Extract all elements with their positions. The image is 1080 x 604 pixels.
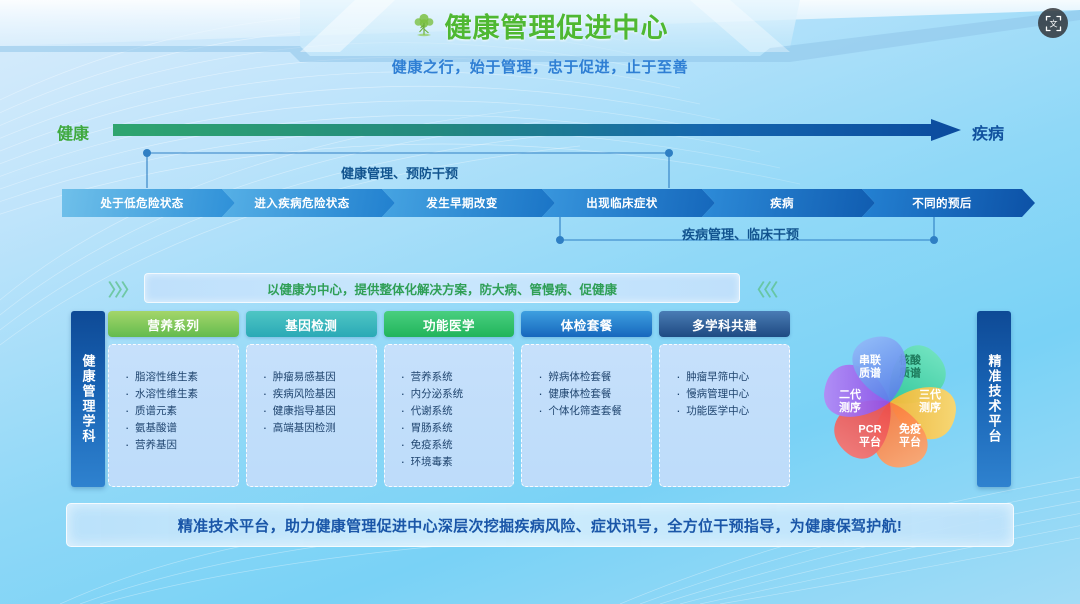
petal-label-3: 免疫平台	[899, 422, 921, 449]
timeline-stage-4[interactable]: 出现临床症状	[542, 189, 715, 217]
list-item: 环境毒素	[385, 454, 514, 471]
timeline-stage-6[interactable]: 不同的预后	[862, 189, 1035, 217]
petal-label-5: 二代测序	[839, 387, 861, 414]
timeline-stage-label: 不同的预后	[912, 195, 972, 211]
list-item: 免疫系统	[385, 437, 514, 454]
infographic-canvas: 健康管理促进中心 健康之行，始于管理，忠于促进，止于至善 文 健康 疾病	[0, 0, 1080, 604]
category-column-header[interactable]: 体检套餐	[521, 311, 652, 337]
fullscreen-button[interactable]: 文	[1038, 8, 1068, 38]
list-item: 高端基因检测	[247, 420, 376, 437]
timeline-stage-2[interactable]: 进入疾病危险状态	[222, 189, 395, 217]
category-column-body: 脂溶性维生素水溶性维生素质谱元素氨基酸谱营养基因	[108, 344, 239, 487]
vertical-label-right-text: 精准技术平台	[985, 354, 1004, 444]
petal-label-2: 三代测序	[919, 387, 941, 414]
category-column-header[interactable]: 基因检测	[246, 311, 377, 337]
annotation-disease-management: 疾病管理、临床干预	[682, 224, 799, 243]
annotation-health-management: 健康管理、预防干预	[341, 163, 458, 182]
timeline-label-health: 健康	[57, 120, 89, 144]
svg-text:文: 文	[1049, 18, 1057, 28]
category-column-1: 营养系列脂溶性维生素水溶性维生素质谱元素氨基酸谱营养基因	[108, 311, 239, 487]
timeline-stage-label: 发生早期改变	[426, 195, 497, 211]
timeline-stage-row: 处于低危险状态进入疾病危险状态发生早期改变出现临床症状疾病不同的预后	[62, 189, 1022, 217]
list-item: 辨病体检套餐	[522, 369, 651, 386]
category-column-body: 营养系统内分泌系统代谢系统胃肠系统免疫系统环境毒素	[384, 344, 515, 487]
vertical-label-left-text: 健康管理学科	[79, 354, 98, 444]
center-statement-text: 以健康为中心，提供整体化解决方案，防大病、管慢病、促健康	[144, 273, 740, 303]
tree-icon	[412, 12, 436, 38]
timeline-stage-3[interactable]: 发生早期改变	[382, 189, 555, 217]
vertical-label-precision-platform: 精准技术平台	[977, 311, 1011, 487]
page-title-row: 健康管理促进中心	[0, 6, 1080, 44]
list-item: 肿瘤早筛中心	[660, 369, 789, 386]
category-column-3: 功能医学营养系统内分泌系统代谢系统胃肠系统免疫系统环境毒素	[384, 311, 515, 487]
svg-text:平台: 平台	[859, 435, 881, 449]
category-column-body: 肿瘤易感基因疾病风险基因健康指导基因高端基因检测	[246, 344, 377, 487]
category-column-header[interactable]: 功能医学	[384, 311, 515, 337]
chevron-right-deco-icon: 〉〉〉	[108, 276, 136, 301]
fullscreen-expand-icon: 文	[1045, 15, 1062, 32]
svg-text:免疫: 免疫	[899, 422, 921, 436]
list-item: 氨基酸谱	[109, 420, 238, 437]
category-column-header[interactable]: 营养系列	[108, 311, 239, 337]
list-item: 慢病管理中心	[660, 386, 789, 403]
list-item: 质谱元素	[109, 403, 238, 420]
list-item: 营养基因	[109, 437, 238, 454]
footer-banner: 精准技术平台，助力健康管理促进中心深层次挖掘疾病风险、症状讯号，全方位干预指导，…	[66, 503, 1014, 547]
chevron-left-deco-icon: 〈〈〈	[748, 276, 776, 301]
list-item: 肿瘤易感基因	[247, 369, 376, 386]
category-column-body: 辨病体检套餐健康体检套餐个体化筛查套餐	[521, 344, 652, 487]
center-statement-banner: 〉〉〉 以健康为中心，提供整体化解决方案，防大病、管慢病、促健康 〈〈〈	[108, 272, 776, 304]
timeline-stage-1[interactable]: 处于低危险状态	[62, 189, 235, 217]
list-item: 脂溶性维生素	[109, 369, 238, 386]
timeline-gradient-arrow	[113, 119, 961, 141]
category-column-4: 体检套餐辨病体检套餐健康体检套餐个体化筛查套餐	[521, 311, 652, 487]
list-item: 个体化筛查套餐	[522, 403, 651, 420]
list-item: 营养系统	[385, 369, 514, 386]
timeline-stage-label: 进入疾病危险状态	[254, 195, 349, 211]
svg-text:二代: 二代	[839, 387, 861, 401]
category-column-2: 基因检测肿瘤易感基因疾病风险基因健康指导基因高端基因检测	[246, 311, 377, 487]
svg-text:测序: 测序	[839, 400, 861, 414]
list-item: 健康指导基因	[247, 403, 376, 420]
svg-text:三代: 三代	[919, 387, 941, 401]
list-item: 功能医学中心	[660, 403, 789, 420]
petal-label-6: 串联质谱	[859, 352, 881, 379]
petal-label-4: PCR平台	[858, 424, 881, 449]
list-item: 代谢系统	[385, 403, 514, 420]
timeline-stage-5[interactable]: 疾病	[702, 189, 875, 217]
svg-text:测序: 测序	[919, 400, 941, 414]
timeline-stage-label: 出现临床症状	[586, 195, 657, 211]
timeline-stage-label: 疾病	[770, 195, 794, 211]
list-item: 疾病风险基因	[247, 386, 376, 403]
list-item: 内分泌系统	[385, 386, 514, 403]
list-item: 水溶性维生素	[109, 386, 238, 403]
category-column-body: 肿瘤早筛中心慢病管理中心功能医学中心	[659, 344, 790, 487]
footer-text: 精准技术平台，助力健康管理促进中心深层次挖掘疾病风险、症状讯号，全方位干预指导，…	[178, 515, 902, 536]
list-item: 健康体检套餐	[522, 386, 651, 403]
page-title: 健康管理促进中心	[445, 6, 669, 45]
timeline-label-disease: 疾病	[972, 120, 1004, 144]
category-columns: 营养系列脂溶性维生素水溶性维生素质谱元素氨基酸谱营养基因基因检测肿瘤易感基因疾病…	[108, 311, 790, 487]
list-item: 胃肠系统	[385, 420, 514, 437]
svg-text:平台: 平台	[899, 435, 921, 449]
category-column-header[interactable]: 多学科共建	[659, 311, 790, 337]
technology-petal-diagram: 核酸质谱三代测序免疫平台PCR平台二代测序串联质谱	[815, 332, 965, 472]
svg-text:串联: 串联	[859, 352, 881, 366]
vertical-label-health-discipline: 健康管理学科	[71, 311, 105, 487]
timeline-stage-label: 处于低危险状态	[100, 195, 183, 211]
page-subtitle: 健康之行，始于管理，忠于促进，止于至善	[0, 56, 1080, 77]
category-column-5: 多学科共建肿瘤早筛中心慢病管理中心功能医学中心	[659, 311, 790, 487]
svg-text:质谱: 质谱	[859, 365, 881, 379]
svg-text:PCR: PCR	[858, 424, 881, 436]
